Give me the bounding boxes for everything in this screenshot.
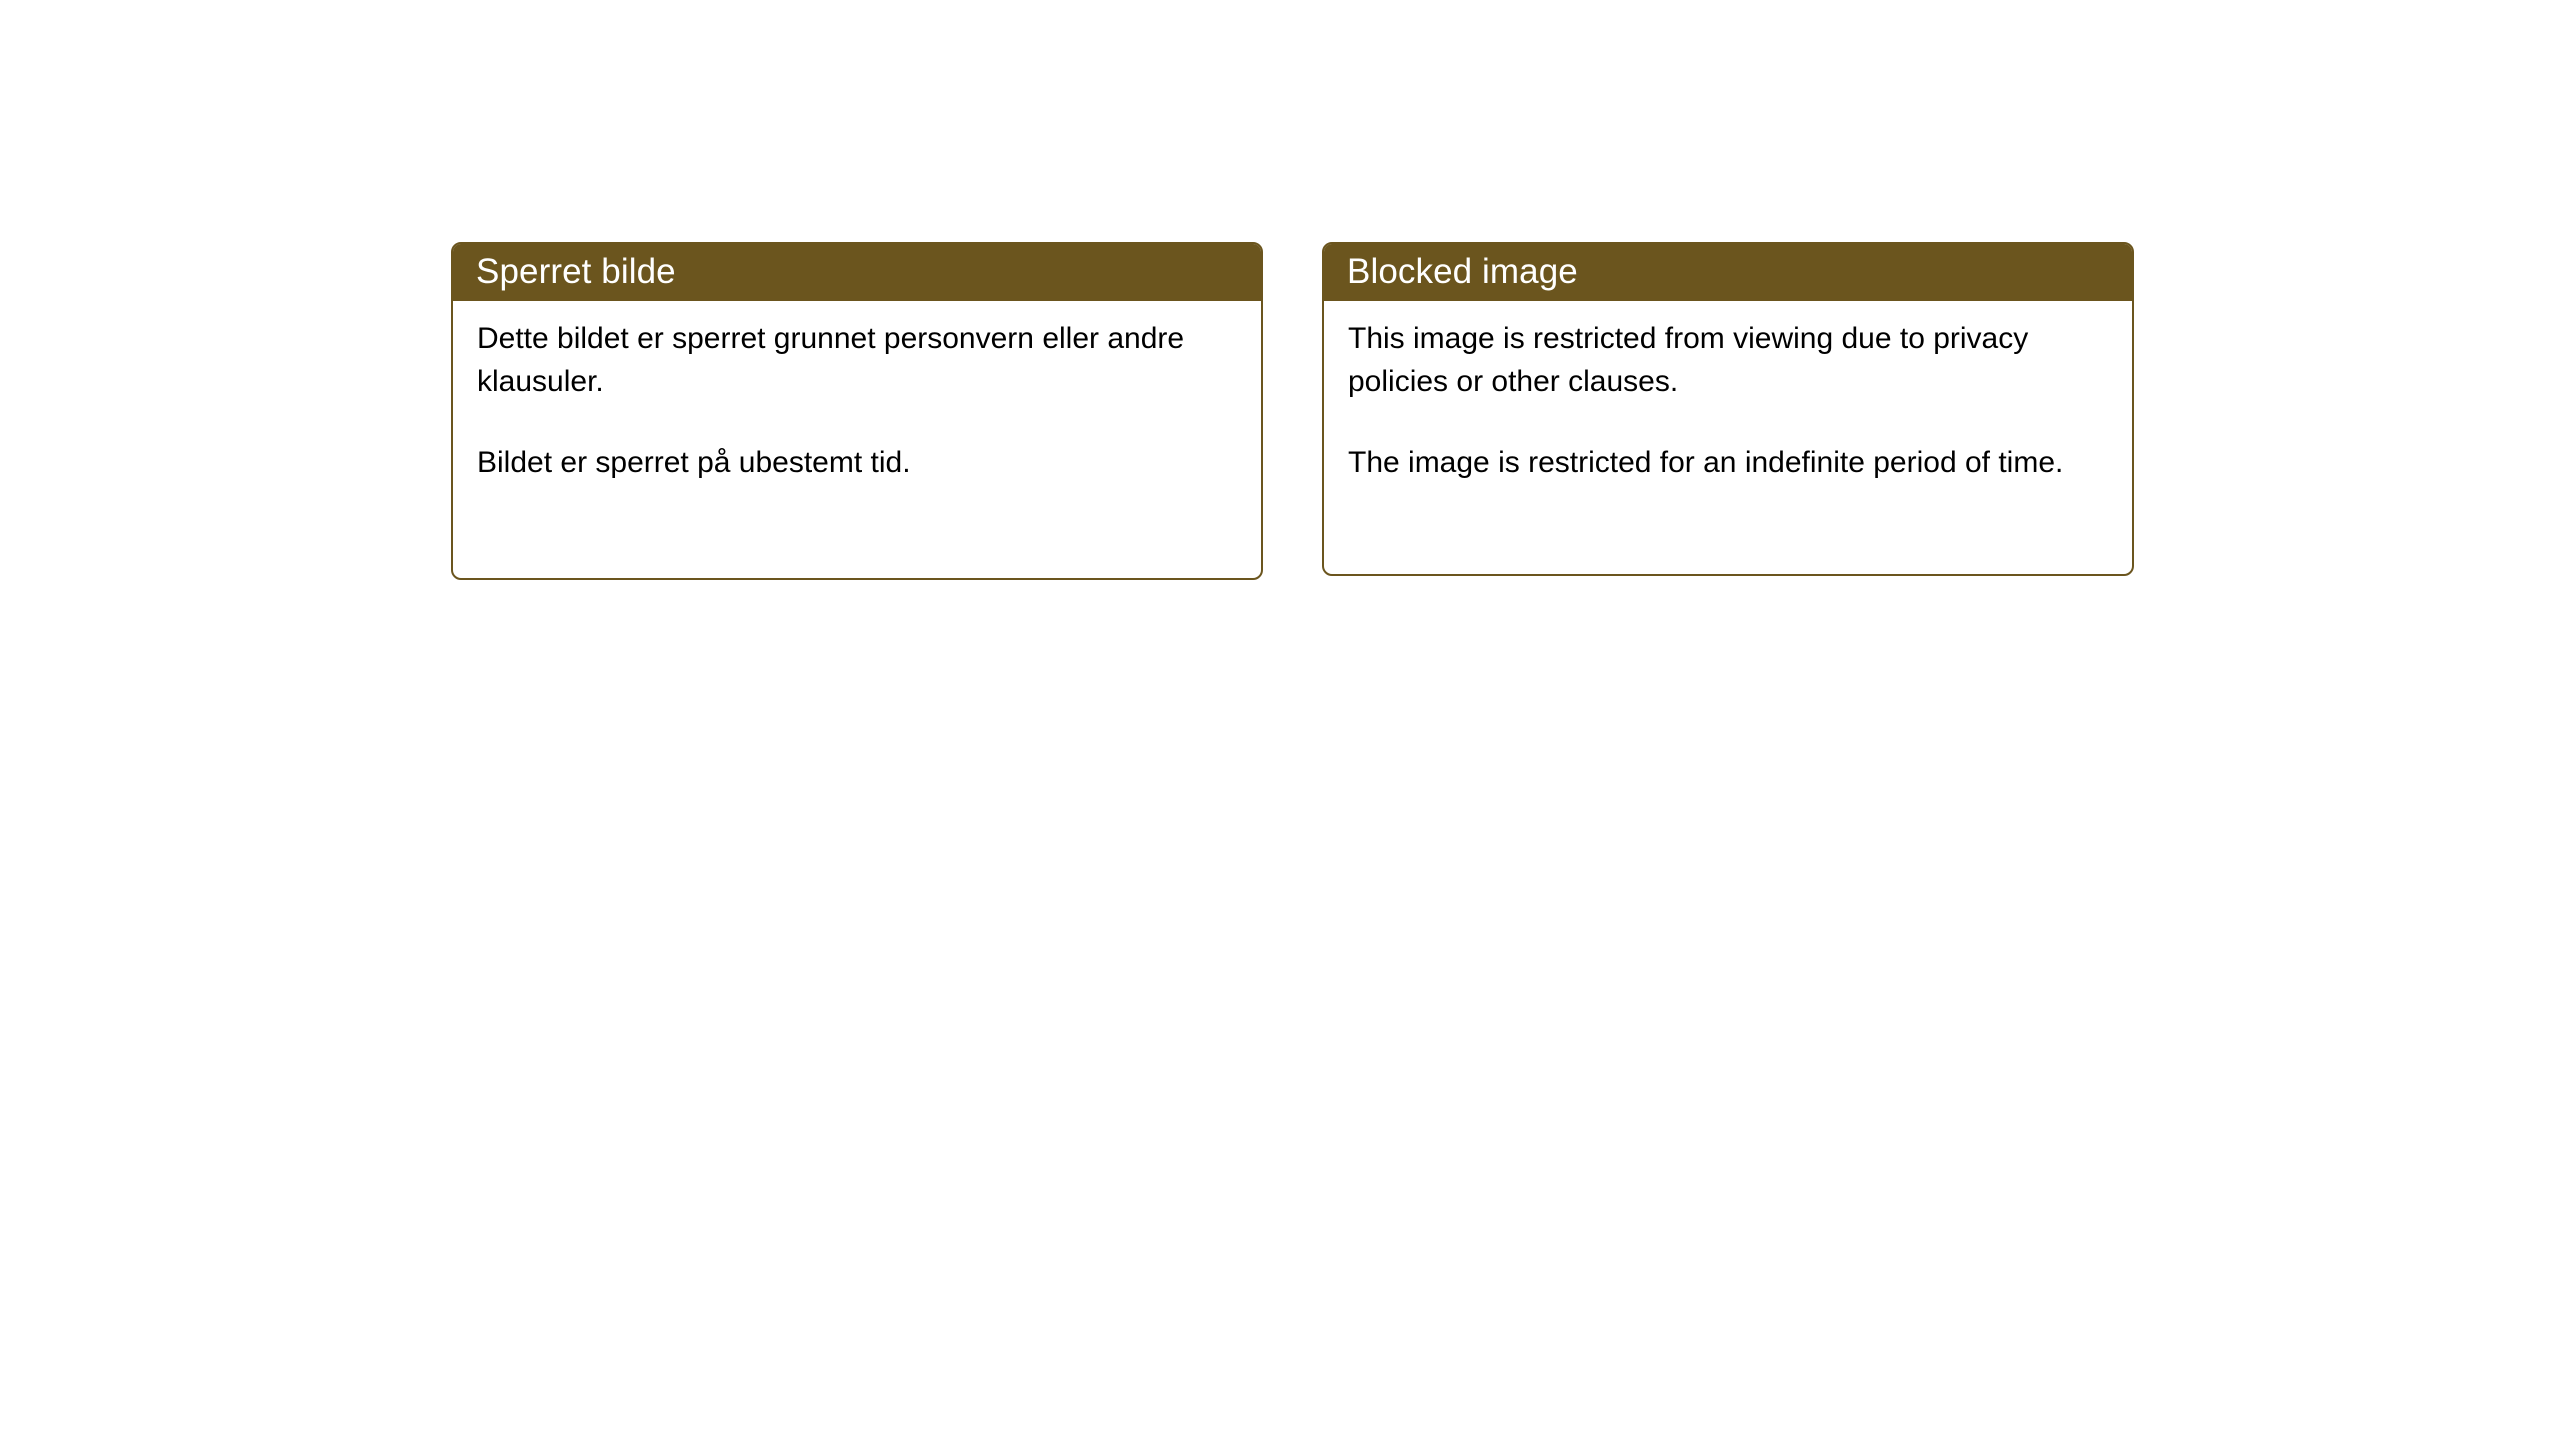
notice-paragraph-reason-english: This image is restricted from viewing du… [1348,317,2088,403]
notice-paragraph-duration-english: The image is restricted for an indefinit… [1348,441,2088,484]
notice-paragraph-duration-norwegian: Bildet er sperret på ubestemt tid. [477,441,1217,484]
notice-card-title-norwegian: Sperret bilde [476,253,676,291]
blocked-image-notice-card-norwegian: Sperret bilde Dette bildet er sperret gr… [451,242,1263,580]
notice-card-title-english: Blocked image [1347,253,1578,291]
notice-card-header-english: Blocked image [1323,243,2133,301]
notice-card-body-english: This image is restricted from viewing du… [1324,301,2132,508]
blocked-image-notice-card-english: Blocked image This image is restricted f… [1322,242,2134,576]
blocked-image-notice-area: Sperret bilde Dette bildet er sperret gr… [0,0,2560,1440]
notice-paragraph-reason-norwegian: Dette bildet er sperret grunnet personve… [477,317,1217,403]
notice-card-body-norwegian: Dette bildet er sperret grunnet personve… [453,301,1261,508]
notice-card-header-norwegian: Sperret bilde [452,243,1262,301]
